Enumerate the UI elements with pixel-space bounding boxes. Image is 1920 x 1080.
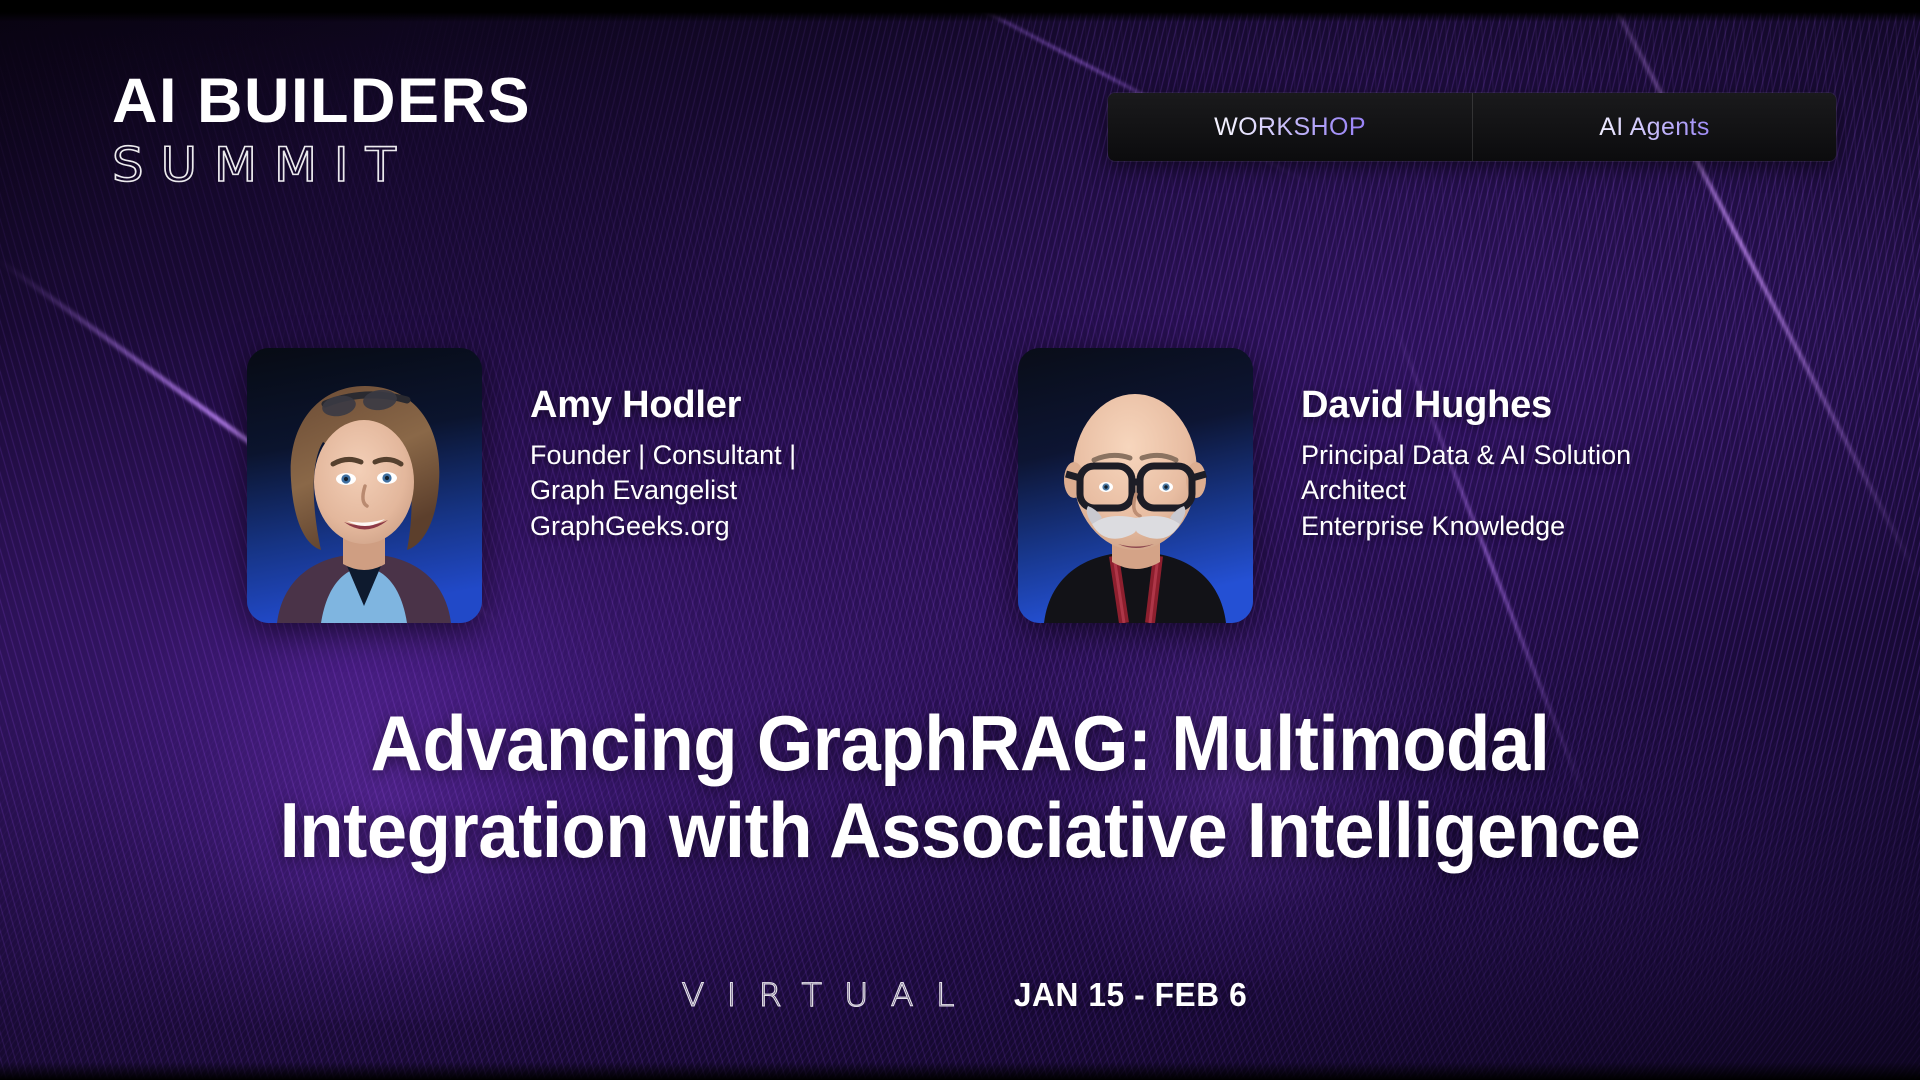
event-dates-label: JAN 15 - FEB 6 bbox=[1014, 976, 1247, 1014]
speaker-card-amy-hodler: Amy Hodler Founder | Consultant | Graph … bbox=[247, 348, 796, 623]
brand-logo-line2: SUMMIT bbox=[112, 142, 556, 189]
avatar bbox=[247, 348, 482, 623]
speaker-name: David Hughes bbox=[1301, 386, 1631, 426]
event-format-label: VIRTUAL bbox=[660, 976, 977, 1014]
nav-tab-ai-agents[interactable]: AI Agents bbox=[1472, 93, 1836, 161]
session-title: Advancing GraphRAG: Multimodal Integrati… bbox=[67, 700, 1853, 873]
speaker-info-amy-hodler: Amy Hodler Founder | Consultant | Graph … bbox=[482, 348, 796, 544]
speaker-role-line: Enterprise Knowledge bbox=[1301, 509, 1631, 545]
event-footer: VIRTUAL JAN 15 - FEB 6 bbox=[0, 976, 1920, 1014]
speaker-card-david-hughes: David Hughes Principal Data & AI Solutio… bbox=[1018, 348, 1631, 623]
speaker-role-line: Founder | Consultant | bbox=[530, 438, 796, 474]
brand-logo: AI BUILDERS SUMMIT bbox=[112, 70, 531, 189]
speaker-role: Founder | Consultant | Graph Evangelist … bbox=[530, 438, 796, 545]
brand-logo-line1: AI BUILDERS bbox=[112, 70, 531, 133]
slide-canvas: AI BUILDERS SUMMIT WORKSHOP AI Agents bbox=[0, 0, 1920, 1080]
avatar bbox=[1018, 348, 1253, 623]
top-nav-tabs: WORKSHOP AI Agents bbox=[1108, 93, 1836, 161]
speaker-role-line: Principal Data & AI Solution bbox=[1301, 438, 1631, 474]
nav-tab-workshop[interactable]: WORKSHOP bbox=[1108, 93, 1472, 161]
speaker-role: Principal Data & AI Solution Architect E… bbox=[1301, 438, 1631, 545]
speaker-role-line: Architect bbox=[1301, 473, 1631, 509]
session-title-line1: Advancing GraphRAG: Multimodal bbox=[67, 700, 1853, 787]
speaker-name: Amy Hodler bbox=[530, 386, 796, 426]
speaker-info-david-hughes: David Hughes Principal Data & AI Solutio… bbox=[1253, 348, 1631, 544]
speaker-role-line: GraphGeeks.org bbox=[530, 509, 796, 545]
session-title-line2: Integration with Associative Intelligenc… bbox=[67, 787, 1853, 874]
speaker-role-line: Graph Evangelist bbox=[530, 473, 796, 509]
